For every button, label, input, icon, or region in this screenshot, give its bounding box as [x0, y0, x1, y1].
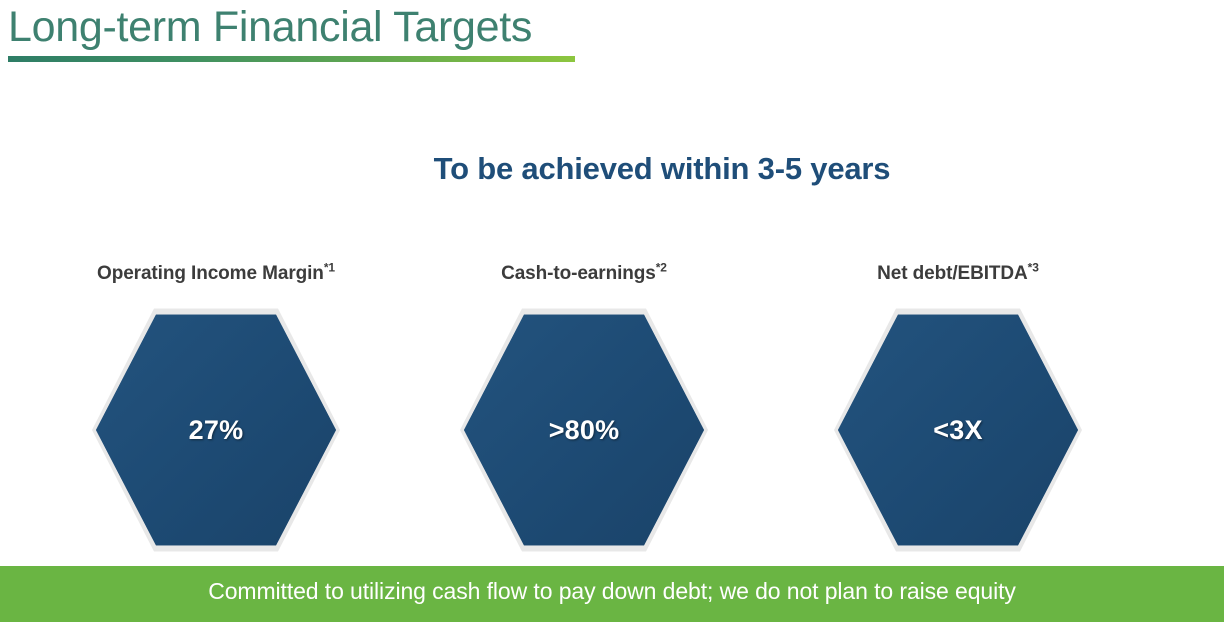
- hexagon-shape: <3X: [834, 306, 1082, 554]
- page-title: Long-term Financial Targets: [8, 2, 648, 52]
- title-underline-rule: [8, 56, 575, 62]
- target-label: Operating Income Margin*1: [46, 262, 386, 286]
- slide-root: Long-term Financial Targets To be achiev…: [0, 0, 1224, 622]
- target-label-text: Operating Income Margin: [97, 263, 324, 284]
- target-label-footnote: *3: [1028, 261, 1039, 275]
- target-card-net-debt-ebitda: Net debt/EBITDA*3 <3X: [788, 262, 1128, 562]
- hexagon-shape: >80%: [460, 306, 708, 554]
- target-card-operating-income-margin: Operating Income Margin*1 27%: [46, 262, 386, 562]
- target-label-text: Net debt/EBITDA: [877, 263, 1028, 284]
- subtitle-text: To be achieved within 3-5 years: [434, 150, 891, 188]
- title-block: Long-term Financial Targets: [8, 2, 648, 62]
- target-label: Net debt/EBITDA*3: [788, 262, 1128, 286]
- hexagon-shape: 27%: [92, 306, 340, 554]
- target-value: >80%: [460, 306, 708, 554]
- subtitle: To be achieved within 3-5 years: [0, 150, 1224, 188]
- footer-banner: Committed to utilizing cash flow to pay …: [0, 566, 1224, 622]
- target-label-footnote: *2: [656, 261, 667, 275]
- target-value: 27%: [92, 306, 340, 554]
- target-label-footnote: *1: [324, 261, 335, 275]
- footer-banner-text: Committed to utilizing cash flow to pay …: [208, 566, 1016, 605]
- target-value: <3X: [834, 306, 1082, 554]
- target-label: Cash-to-earnings*2: [414, 262, 754, 286]
- targets-row: Operating Income Margin*1 27% Cash-to-ea…: [0, 262, 1224, 562]
- target-label-text: Cash-to-earnings: [501, 263, 656, 284]
- target-card-cash-to-earnings: Cash-to-earnings*2 >80%: [414, 262, 754, 562]
